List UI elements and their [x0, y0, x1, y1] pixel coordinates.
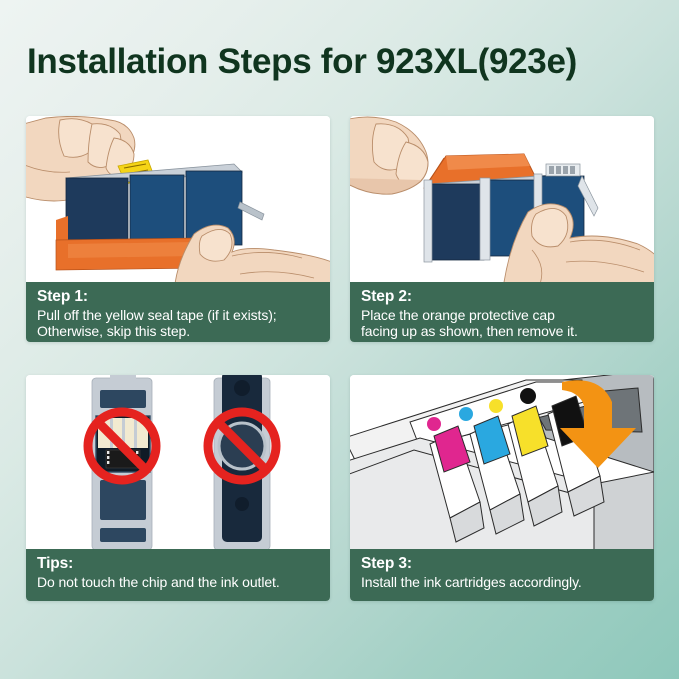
tips-card-caption: Tips: Do not touch the chip and the ink … — [26, 549, 330, 601]
upper-left-hand-shape — [350, 117, 428, 194]
cartridge-chip — [546, 164, 580, 176]
step-card-1-title: Step 1: — [37, 288, 319, 306]
step-card-2: Step 2: Place the orange protective cap … — [350, 116, 654, 342]
dot-black — [520, 388, 536, 404]
step-card-3: Step 3: Install the ink cartridges accor… — [350, 375, 654, 601]
tips-card: Tips: Do not touch the chip and the ink … — [26, 375, 330, 601]
illustration-remove-orange-cap — [350, 116, 654, 282]
dot-cyan — [459, 407, 473, 421]
dot-yellow — [489, 399, 503, 413]
steps-grid: Step 1: Pull off the yellow seal tape (i… — [26, 116, 654, 601]
step-card-1-body: Pull off the yellow seal tape (if it exi… — [37, 307, 319, 339]
dot-magenta — [427, 417, 441, 431]
step-card-1-caption: Step 1: Pull off the yellow seal tape (i… — [26, 282, 330, 342]
illustration-install-cartridges-in-printer — [350, 375, 654, 549]
step-card-3-body: Install the ink cartridges accordingly. — [361, 574, 643, 590]
tips-card-title: Tips: — [37, 555, 319, 573]
page-title: Installation Steps for 923XL(923e) — [27, 42, 577, 82]
illustration-pull-seal-tape — [26, 116, 330, 282]
step-card-2-caption: Step 2: Place the orange protective cap … — [350, 282, 654, 342]
illustration-do-not-touch-chip-and-outlet — [26, 375, 330, 549]
step-card-2-body: Place the orange protective cap facing u… — [361, 307, 643, 339]
tips-card-body: Do not touch the chip and the ink outlet… — [37, 574, 319, 590]
lower-hand-shape — [174, 225, 330, 282]
step-card-3-title: Step 3: — [361, 555, 643, 573]
step-card-3-caption: Step 3: Install the ink cartridges accor… — [350, 549, 654, 601]
step-card-1: Step 1: Pull off the yellow seal tape (i… — [26, 116, 330, 342]
step-card-2-title: Step 2: — [361, 288, 643, 306]
